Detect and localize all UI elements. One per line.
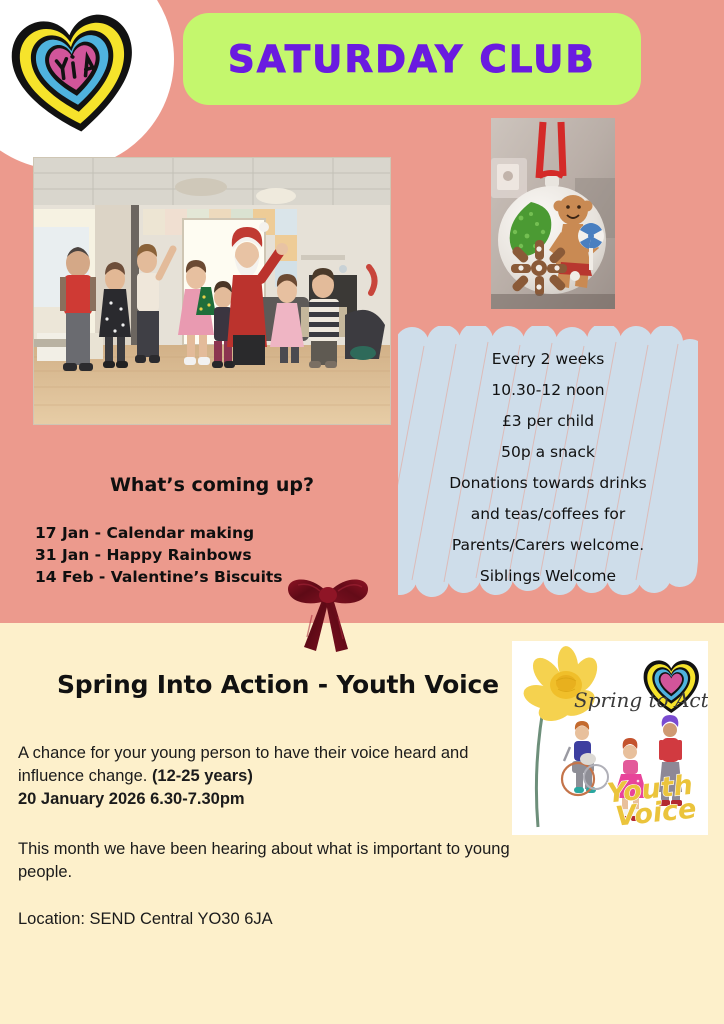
event-location: Location: SEND Central YO30 6JA bbox=[18, 908, 518, 931]
red-ribbon-bow bbox=[282, 565, 374, 653]
script-title-text: Spring to Action bbox=[574, 688, 708, 712]
saturday-club-banner: SATURDAY CLUB bbox=[183, 13, 641, 105]
spring-intro-paragraph: A chance for your young person to have t… bbox=[18, 742, 510, 811]
age-range-badge: (12-25 years) bbox=[152, 767, 253, 785]
upcoming-events-list: 17 Jan - Calendar making 31 Jan - Happy … bbox=[35, 522, 283, 588]
saturday-club-group-photo bbox=[33, 157, 391, 425]
session-details-text: Every 2 weeks 10.30-12 noon £3 per child… bbox=[398, 326, 698, 608]
list-item: 17 Jan - Calendar making bbox=[35, 522, 283, 544]
christmas-bauble-photo bbox=[491, 118, 615, 309]
list-item: 14 Feb - Valentine’s Biscuits bbox=[35, 566, 283, 588]
whats-coming-up-heading: What’s coming up? bbox=[0, 474, 424, 496]
poster-canvas: SATURDAY CLUB bbox=[0, 0, 724, 1024]
spring-into-action-heading: Spring Into Action - Youth Voice bbox=[57, 670, 499, 699]
youth-in-action-heart-logo bbox=[6, 6, 142, 138]
info-line: 10.30-12 noon bbox=[491, 375, 604, 406]
info-line: and teas/coffees for bbox=[471, 499, 626, 530]
list-item: 31 Jan - Happy Rainbows bbox=[35, 544, 283, 566]
page-title: SATURDAY CLUB bbox=[228, 38, 596, 81]
spring-update-paragraph: This month we have been hearing about wh… bbox=[18, 838, 518, 884]
info-line: Donations towards drinks bbox=[449, 468, 647, 499]
info-line: 50p a snack bbox=[501, 437, 595, 468]
info-line: Every 2 weeks bbox=[492, 344, 605, 375]
event-datetime: 20 January 2026 6.30-7.30pm bbox=[18, 790, 245, 808]
session-details-box: Every 2 weeks 10.30-12 noon £3 per child… bbox=[398, 326, 698, 608]
spring-to-action-youth-voice-graphic: Spring to Action bbox=[512, 641, 708, 835]
info-line: Siblings Welcome bbox=[480, 561, 616, 592]
info-line: £3 per child bbox=[502, 406, 594, 437]
info-line: Parents/Carers welcome. bbox=[452, 530, 644, 561]
